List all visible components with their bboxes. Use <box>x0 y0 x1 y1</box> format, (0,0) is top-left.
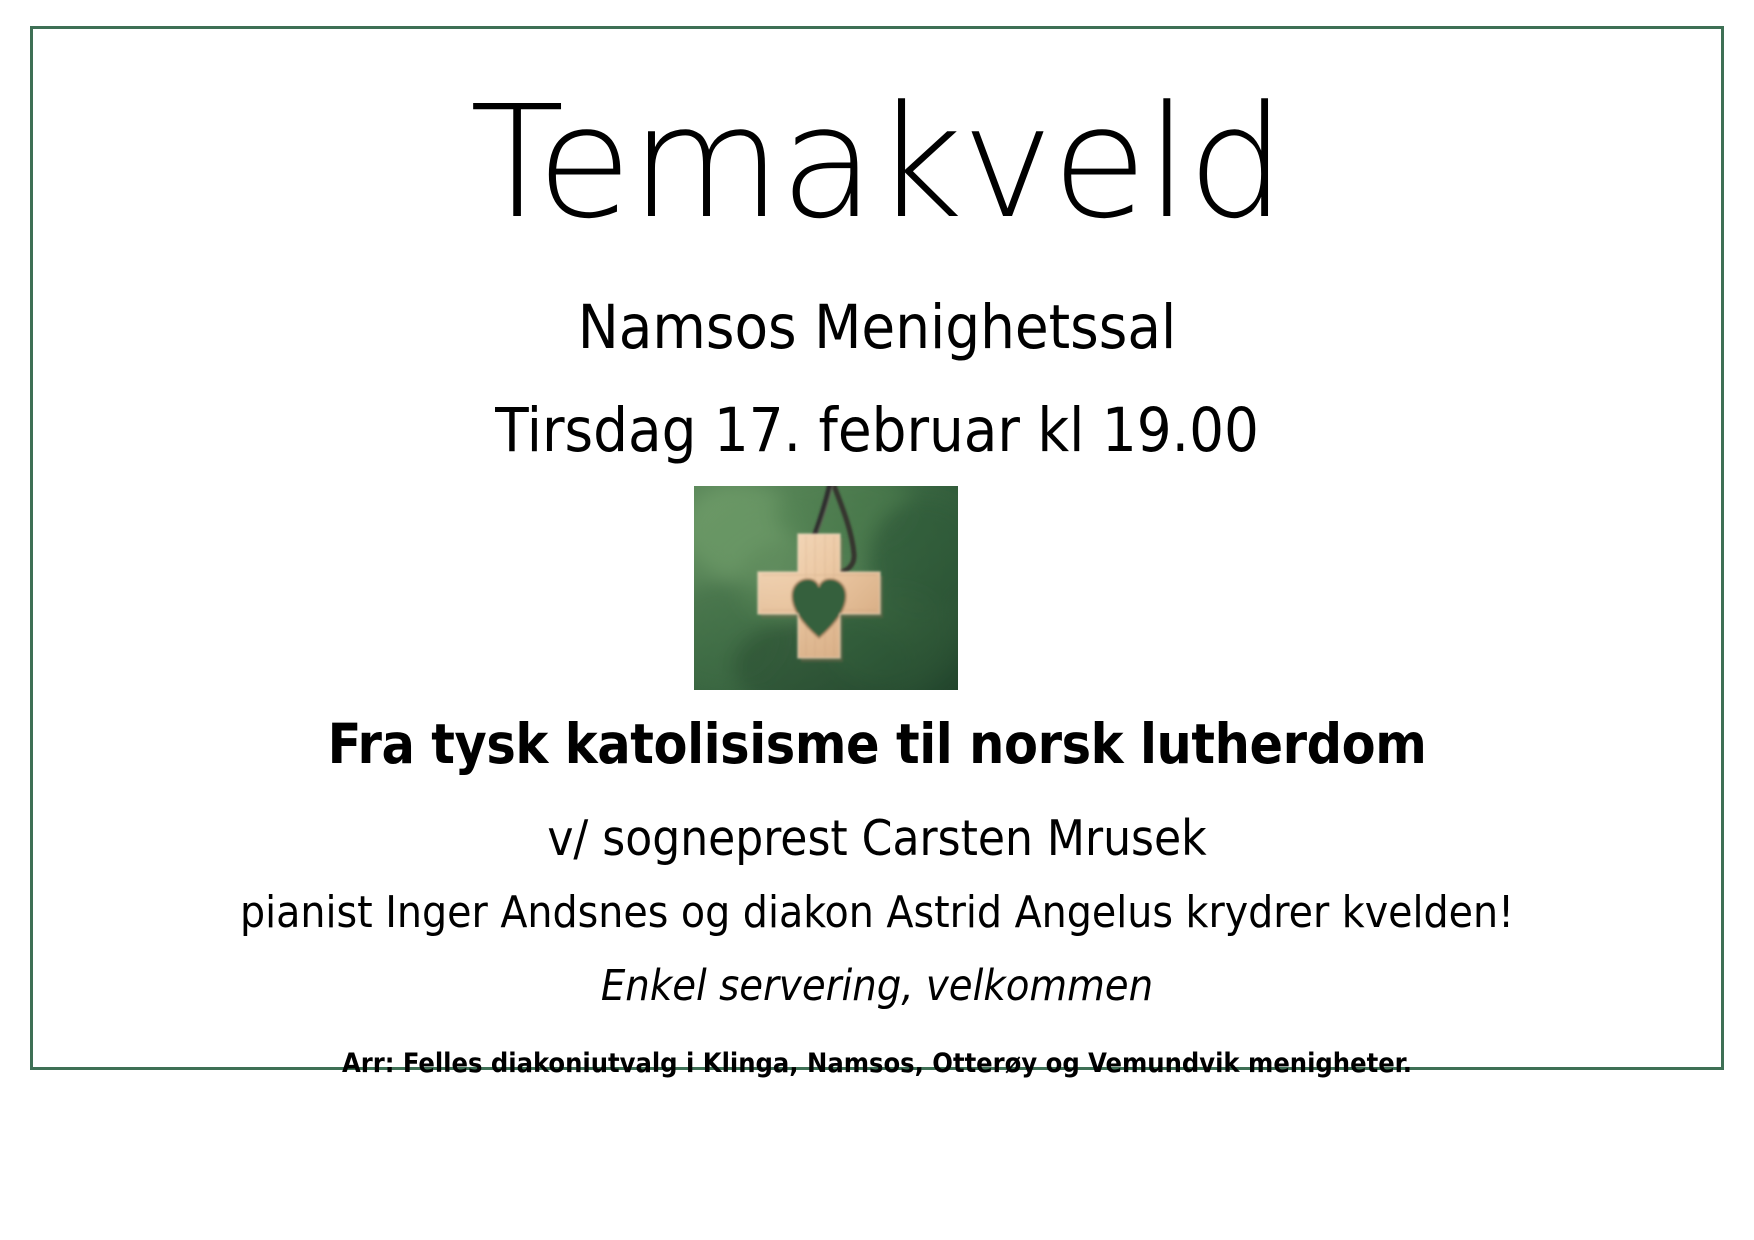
performers-line: pianist Inger Andsnes og diakon Astrid A… <box>33 891 1721 935</box>
photo-container <box>694 486 958 690</box>
serving-line: Enkel servering, velkommen <box>33 965 1721 1008</box>
venue-line: Namsos Menighetssal <box>33 297 1721 358</box>
event-headline: Fra tysk katolisisme til norsk lutherdom <box>33 717 1721 772</box>
speaker-line: v/ sogneprest Carsten Mrusek <box>33 814 1721 863</box>
page-title: Temakveld <box>33 85 1721 240</box>
poster: Temakveld Namsos Menighetssal Tirsdag 17… <box>0 0 1754 1240</box>
datetime-line: Tirsdag 17. februar kl 19.00 <box>33 400 1721 461</box>
wooden-cross-with-heart-photo <box>694 486 958 690</box>
poster-border-frame: Temakveld Namsos Menighetssal Tirsdag 17… <box>30 26 1724 1070</box>
organizer-line: Arr: Felles diakoniutvalg i Klinga, Nams… <box>33 1050 1721 1077</box>
poster-content: Temakveld Namsos Menighetssal Tirsdag 17… <box>33 29 1721 1067</box>
